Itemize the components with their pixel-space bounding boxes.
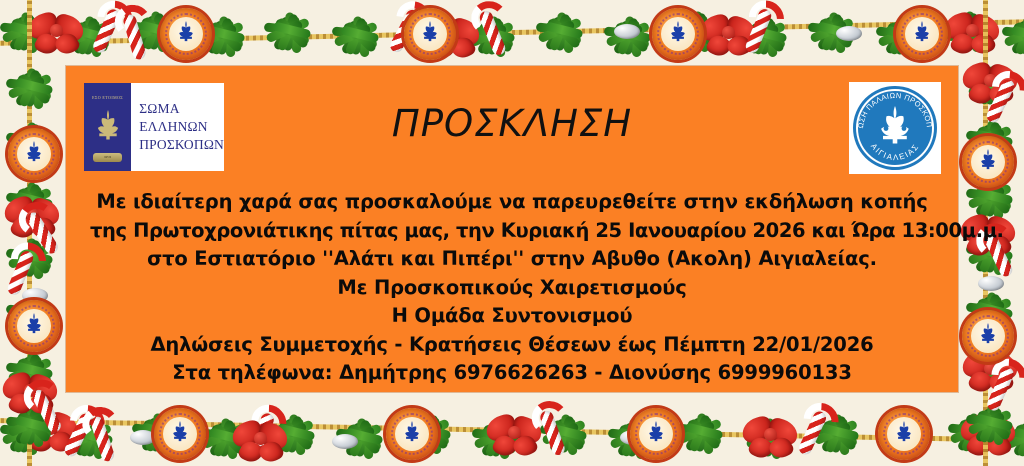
red-ribbon-bow — [700, 14, 756, 56]
pine-branch — [592, 6, 666, 60]
garland-left — [0, 0, 70, 466]
scout-medallion-icon — [652, 8, 704, 60]
body-line-3: στο Εστιατόριο ''Αλάτι και Πιπέρι'' στην… — [90, 245, 934, 274]
pine-branch — [256, 404, 330, 458]
pearl-ornament — [836, 26, 862, 41]
red-ribbon-bow — [962, 62, 1018, 104]
crest-arc-text: ΕΣΟ ΕΤΟΙΜΟΣ — [84, 95, 131, 100]
candy-cane — [63, 411, 95, 458]
scout-medallion-icon — [962, 136, 1014, 188]
crest-scroll-text: ΣΕΠ — [93, 153, 122, 162]
scout-medallion-icon — [386, 408, 438, 460]
pine-branch — [324, 408, 398, 462]
pine-branch — [0, 172, 68, 226]
scout-medallion-icon — [160, 8, 212, 60]
red-ribbon-bow — [28, 12, 84, 54]
pine-branch — [392, 403, 466, 457]
fleur-de-lis-icon — [872, 104, 918, 152]
pine-branch — [528, 404, 602, 458]
scout-medallion-icon — [878, 408, 930, 460]
pine-branch — [0, 58, 68, 112]
pine-branch — [954, 110, 1024, 164]
pearl-ornament — [614, 24, 640, 39]
candy-cane — [539, 409, 567, 457]
scout-medallion-icon — [154, 408, 206, 460]
body-line-2: της Πρωτοχρονιάτικης πίτας μας, την Κυρι… — [90, 217, 934, 246]
garland-top — [0, 0, 1024, 68]
pine-branch — [660, 1, 734, 55]
candy-cane — [245, 411, 276, 458]
pine-branch — [796, 2, 870, 56]
pine-branch — [188, 408, 262, 462]
pine-branch — [460, 408, 534, 462]
pine-branch — [456, 6, 530, 60]
candy-cane — [797, 409, 828, 456]
pine-branch — [932, 1, 1006, 55]
pine-branch — [954, 56, 1024, 110]
pine-branch — [954, 282, 1024, 336]
pine-branch — [0, 404, 62, 458]
garland-bottom — [0, 394, 1024, 466]
pine-branch — [0, 2, 62, 56]
candy-cane — [25, 210, 60, 256]
pine-branch — [0, 342, 68, 396]
invitation-body: Με ιδιαίτερη χαρά σας προσκαλούμε να παρ… — [90, 188, 934, 388]
body-line-4: Με Προσκοπικούς Χαιρετισμούς — [90, 274, 934, 303]
pine-branch — [992, 408, 1024, 462]
pearl-ornament — [170, 26, 196, 41]
pine-branch — [954, 394, 1024, 448]
pine-branch — [596, 408, 670, 462]
page-title: ΠΡΟΣΚΛΗΣΗ — [66, 102, 958, 145]
scout-medallion-icon — [8, 128, 60, 180]
candy-cane — [89, 415, 116, 463]
pine-branch — [732, 408, 806, 462]
pine-branch — [664, 403, 738, 457]
body-line-7: Στα τηλέφωνα: Δημήτρης 6976626263 - Διον… — [90, 359, 934, 388]
pearl-ornament — [332, 434, 358, 449]
body-line-1: Με ιδιαίτερη χαρά σας προσκαλούμε να παρ… — [90, 188, 934, 217]
red-ribbon-bow — [960, 414, 1016, 456]
red-ribbon-bow — [22, 410, 78, 452]
pine-branch — [864, 6, 938, 60]
red-ribbon-bow — [962, 350, 1018, 392]
pine-branch — [728, 6, 802, 60]
pearl-ornament — [620, 430, 646, 445]
pearl-ornament — [978, 276, 1004, 291]
invitation-panel: ΕΣΟ ΕΤΟΙΜΟΣ ΣΕΠ ΣΩΜΑ ΕΛΛΗΝΩΝ ΠΡΟΣΚΟΠΩΝ — [66, 66, 958, 392]
pine-branch — [186, 6, 260, 60]
body-line-6: Δηλώσεις Συμμετοχής - Κρατήσεις Θέσεων έ… — [90, 331, 934, 360]
red-ribbon-bow — [742, 416, 798, 458]
pearl-ornament — [130, 430, 156, 445]
red-ribbon-bow — [944, 12, 1000, 54]
red-ribbon-bow — [232, 420, 288, 462]
candy-cane — [388, 8, 421, 55]
body-line-5: Η Ομάδα Συντονισμού — [90, 302, 934, 331]
red-ribbon-bow — [424, 16, 480, 58]
pine-branch — [800, 404, 874, 458]
pine-branch — [954, 168, 1024, 222]
pine-branch — [54, 408, 128, 462]
candy-cane — [122, 13, 147, 61]
pine-branch — [0, 112, 68, 166]
candy-cane — [744, 7, 773, 55]
pine-branch — [868, 408, 942, 462]
pine-branch — [0, 228, 68, 282]
scout-medallion-icon — [962, 310, 1014, 362]
pine-branch — [118, 1, 192, 55]
invitation-flyer: ΕΣΟ ΕΤΟΙΜΟΣ ΣΕΠ ΣΩΜΑ ΕΛΛΗΝΩΝ ΠΡΟΣΚΟΠΩΝ — [0, 0, 1024, 466]
pine-branch — [0, 396, 68, 450]
pine-branch — [388, 1, 462, 55]
candy-cane — [478, 9, 507, 57]
pine-branch — [936, 403, 1010, 457]
pine-branch — [990, 6, 1024, 60]
candy-cane — [30, 388, 63, 435]
candy-cane — [985, 365, 1016, 412]
scout-medallion-icon — [630, 408, 682, 460]
gold-bead-string — [27, 0, 32, 466]
candy-cane — [6, 249, 35, 297]
pine-branch — [524, 2, 598, 56]
scout-medallion-icon — [8, 300, 60, 352]
pine-branch — [320, 6, 394, 60]
candy-cane — [91, 7, 122, 54]
scout-medallion-icon — [404, 8, 456, 60]
gold-bead-string — [0, 418, 1024, 443]
red-ribbon-bow — [4, 196, 60, 238]
pine-branch — [252, 2, 326, 56]
pearl-ornament — [880, 432, 906, 447]
pine-branch — [52, 6, 126, 60]
red-ribbon-bow — [486, 414, 542, 456]
pine-branch — [0, 284, 68, 338]
candy-cane — [985, 77, 1017, 124]
scout-medallion-icon — [896, 8, 948, 60]
pine-branch — [120, 403, 194, 457]
red-ribbon-bow — [2, 372, 58, 414]
pearl-ornament — [22, 288, 48, 303]
pine-branch — [954, 338, 1024, 392]
gold-bead-string — [0, 19, 1024, 46]
